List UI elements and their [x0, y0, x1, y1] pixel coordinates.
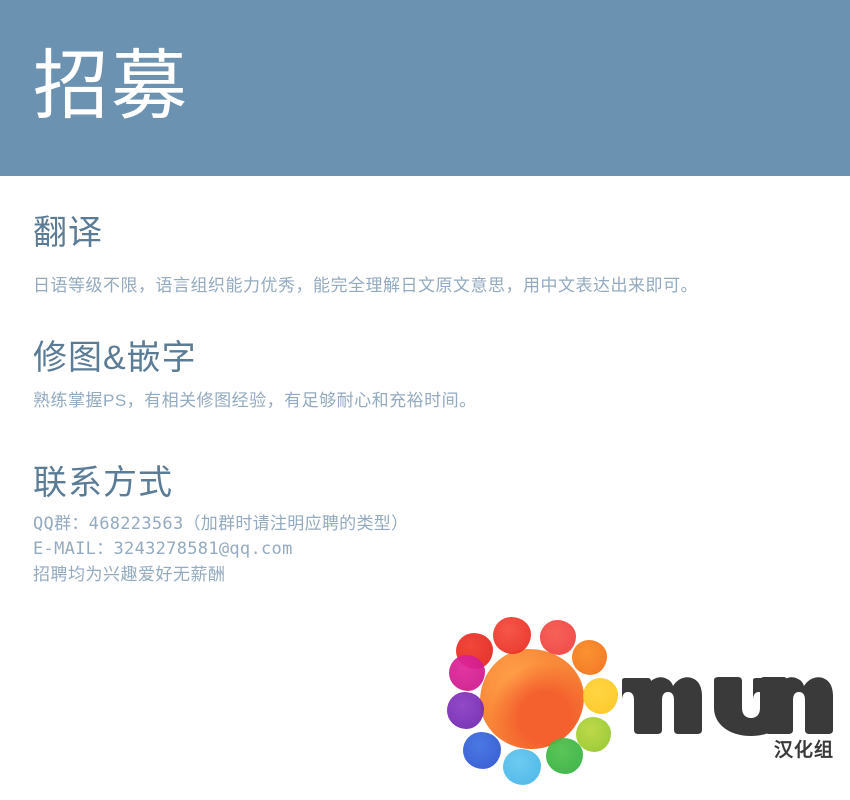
contact-line-qq: QQ群：468223563（加群时请注明应聘的类型） — [33, 512, 823, 537]
logo-blob-blue — [463, 732, 501, 769]
group-logo: 汉化组 — [446, 612, 836, 787]
page-title: 招募 — [33, 42, 189, 132]
contact-line-note: 招聘均为兴趣爱好无薪酬 — [33, 562, 823, 587]
section-retouch: 修图&嵌字 熟练掌握PS，有相关修图经验，有足够耐心和充裕时间。 — [33, 336, 823, 414]
section-contact: 联系方式 QQ群：468223563（加群时请注明应聘的类型） E-MAIL：3… — [33, 461, 823, 587]
logo-subtitle: 汉化组 — [774, 740, 834, 762]
contact-line-list: QQ群：468223563（加群时请注明应聘的类型） E-MAIL：324327… — [33, 512, 823, 587]
logo-blob-purple — [447, 692, 484, 729]
header-banner: 招募 — [0, 0, 850, 176]
section-body-retouch: 熟练掌握PS，有相关修图经验，有足够耐心和充裕时间。 — [33, 387, 823, 414]
section-translate: 翻译 日语等级不限，语言组织能力优秀，能完全理解日文原文意思，用中文表达出来即可… — [33, 211, 823, 299]
logo-blob-center — [480, 649, 584, 749]
logo-blob-magenta — [449, 655, 485, 691]
logo-blob-coral — [540, 620, 576, 655]
section-heading-retouch: 修图&嵌字 — [33, 336, 823, 380]
section-body-translate: 日语等级不限，语言组织能力优秀，能完全理解日文原文意思，用中文表达出来即可。 — [33, 272, 823, 299]
watercolor-circle-icon — [446, 612, 621, 787]
logo-blob-yellow — [583, 678, 618, 714]
logo-blob-orange — [572, 640, 607, 675]
logo-wordmark-mum — [618, 658, 836, 738]
logo-blob-light-blue — [503, 749, 541, 785]
contact-line-email: E-MAIL：3243278581@qq.com — [33, 537, 823, 562]
section-heading-contact: 联系方式 — [33, 461, 823, 505]
section-heading-translate: 翻译 — [33, 211, 823, 255]
logo-blob-red-top — [493, 617, 531, 654]
logo-blob-green — [546, 738, 583, 774]
